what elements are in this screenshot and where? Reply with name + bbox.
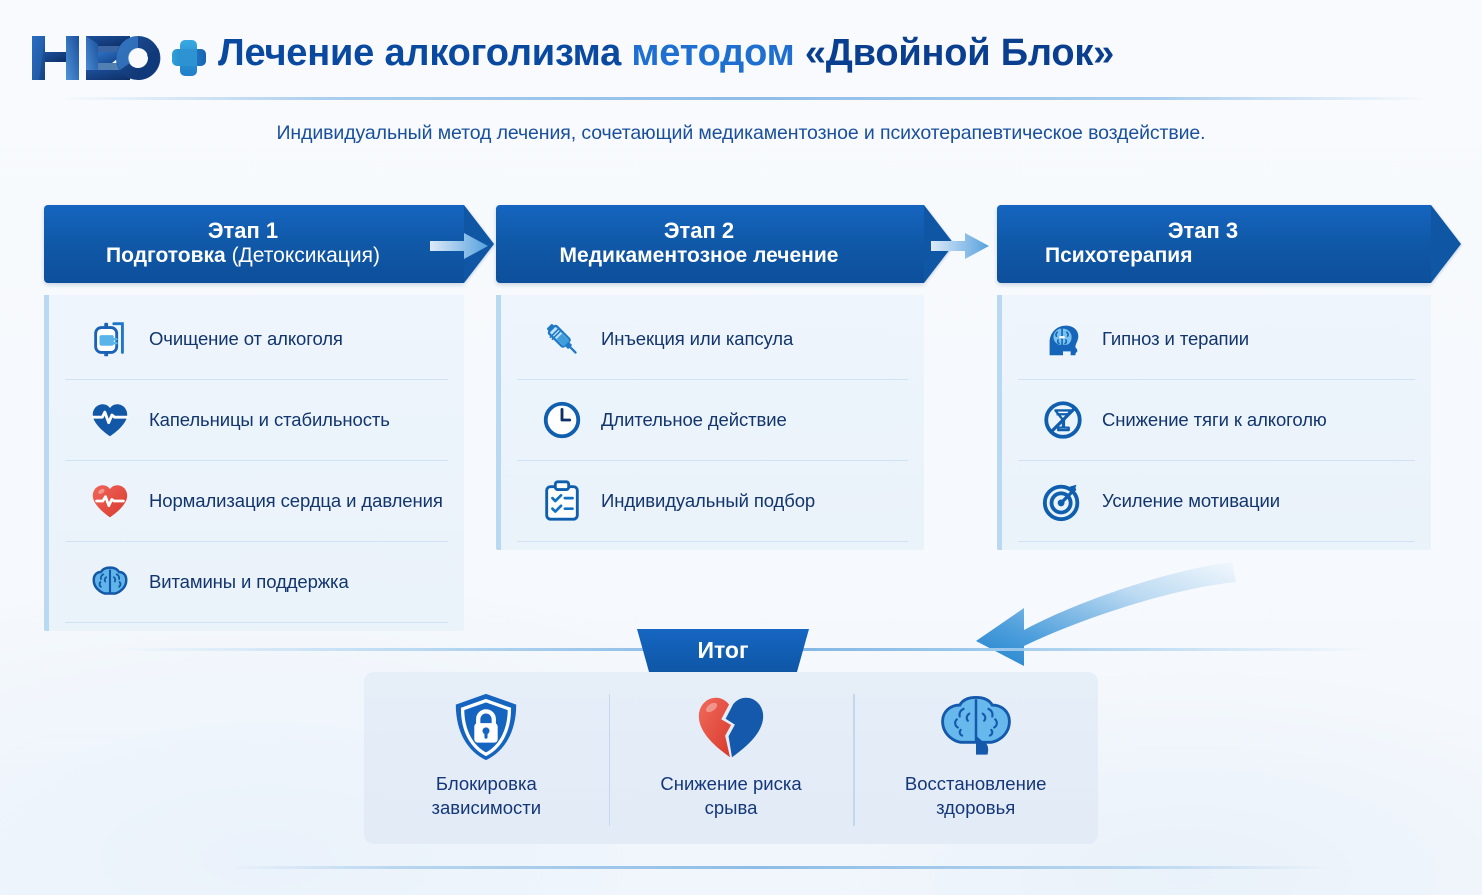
title-part-2: методом [631,32,794,74]
connector-arrow-2 [931,232,991,260]
result-item-3-line1: Восстановление [905,773,1047,794]
result-item-2[interactable]: Снижение риска срыва [609,672,854,844]
list-item-label: Длительное действие [601,409,787,431]
list-item[interactable]: Нормализация сердца и давления [65,461,448,542]
stage-2-header: Этап 2 Медикаментозное лечение [496,205,924,283]
heart-pulse-blue-icon [87,397,133,443]
list-item-label: Капельницы и стабильность [149,409,390,431]
title-part-3: «Двойной Блок» [805,32,1114,74]
clipboard-checklist-icon [539,478,585,524]
list-item[interactable]: Гипноз и терапии [1018,299,1415,380]
list-item[interactable]: Снижение тяги к алкоголю [1018,380,1415,461]
result-item-1[interactable]: Блокировка зависимости [364,672,609,844]
itog-tab: Итог [637,629,809,672]
head-brain-icon [1040,316,1086,362]
list-item-label: Инъекция или капсула [601,328,793,350]
stage-2-name: Медикаментозное лечение [560,244,839,269]
list-item[interactable]: Индивидуальный подбор [517,461,908,542]
connector-arrow-1 [430,232,490,260]
page-header: Лечение алкоголизма методом «Двойной Бло… [0,0,1482,96]
itog-label: Итог [697,637,748,664]
result-item-1-line2: зависимости [432,797,542,818]
brain-recovery-icon [934,688,1018,766]
broken-heart-icon [693,688,769,766]
stage-1-number: Этап 1 [208,219,278,244]
result-panel: Блокировка зависимости Снижение риска ср… [364,672,1098,844]
iv-drip-bag-icon [87,316,133,362]
arrow-right-icon [931,232,991,260]
stage-column-1: Этап 1 Подготовка (Детоксикация) [44,205,464,631]
stage-3-card: Гипноз и терапии Снижение тяги к алкогол… [997,295,1431,550]
list-item[interactable]: Очищение от алкоголя [65,299,448,380]
stage-1-name-extra: (Детоксикация) [226,244,380,267]
stage-1-name-main: Подготовка [106,244,226,267]
list-item[interactable]: Длительное действие [517,380,908,461]
header-divider [60,97,1430,100]
target-arrow-icon [1040,478,1086,524]
list-item-label: Очищение от алкоголя [149,328,343,350]
list-item[interactable]: Инъекция или капсула [517,299,908,380]
stage-3-name: Психотерапия [997,244,1409,269]
stage-column-2: Этап 2 Медикаментозное лечение [496,205,924,550]
list-item-label: Нормализация сердца и давления [149,490,443,512]
syringe-icon [539,316,585,362]
result-item-3[interactable]: Восстановление здоровья [853,672,1098,844]
title-part-1: Лечение алкоголизма [218,32,621,74]
neo-plus-logo [26,30,208,86]
result-item-3-line2: здоровья [936,797,1015,818]
infographic-page: Лечение алкоголизма методом «Двойной Бло… [0,0,1482,895]
page-title: Лечение алкоголизма методом «Двойной Бло… [218,34,1114,72]
stage-3-header: Этап 3 Психотерапия [997,205,1431,283]
no-alcohol-glass-icon [1040,397,1086,443]
stage-1-card: Очищение от алкоголя Капельницы и стабил… [44,295,464,631]
clock-icon [539,397,585,443]
footer-divider [230,866,1330,869]
shield-lock-icon [448,688,524,766]
list-item-label: Гипноз и терапии [1102,328,1249,350]
result-item-3-caption: Восстановление здоровья [905,772,1047,819]
list-item-label: Индивидуальный подбор [601,490,815,512]
stage-1-header: Этап 1 Подготовка (Детоксикация) [44,205,464,283]
result-item-2-line1: Снижение риска [660,773,801,794]
result-item-2-caption: Снижение риска срыва [660,772,801,819]
result-item-1-line1: Блокировка [436,773,537,794]
list-item-label: Усиление мотивации [1102,490,1280,512]
stage-2-number: Этап 2 [664,219,734,244]
arrow-right-icon [430,232,490,260]
list-item-label: Снижение тяги к алкоголю [1102,409,1327,431]
stage-2-card: Инъекция или капсула Длительное действие [496,295,924,550]
list-item[interactable]: Витамины и поддержка [65,542,448,623]
heart-pulse-red-icon [87,478,133,524]
result-item-2-line2: срыва [705,797,758,818]
page-subtitle: Индивидуальный метод лечения, сочетающий… [0,122,1482,145]
result-item-1-caption: Блокировка зависимости [432,772,542,819]
list-item[interactable]: Усиление мотивации [1018,461,1415,542]
brain-icon [87,559,133,605]
list-item-label: Витамины и поддержка [149,571,349,593]
stage-column-3: Этап 3 Психотерапия Гипноз и терапии [997,205,1431,550]
stage-1-name: Подготовка (Детоксикация) [106,244,380,269]
stage-3-number: Этап 3 [1168,219,1238,244]
list-item[interactable]: Капельницы и стабильность [65,380,448,461]
